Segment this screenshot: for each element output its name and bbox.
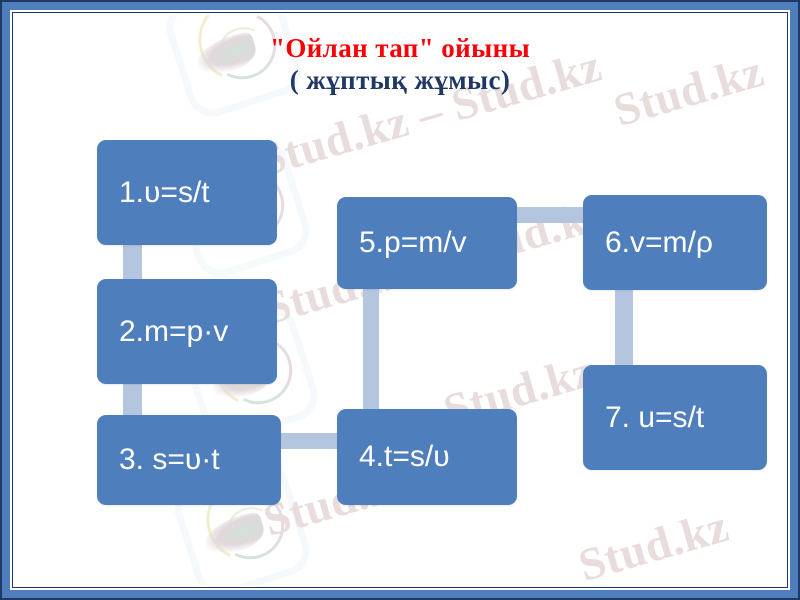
connector-6-7	[615, 290, 633, 366]
node-label: 3. s=υ·t	[119, 443, 220, 477]
node-1[interactable]: 1.υ=s/t	[97, 140, 277, 245]
node-label: 2.m=p·v	[119, 315, 228, 349]
connector-5-6	[516, 207, 585, 223]
node-label: 6.v=m/ρ	[605, 226, 713, 260]
connector-5-4	[363, 289, 379, 410]
connector-2-3	[123, 384, 142, 416]
node-3[interactable]: 3. s=υ·t	[97, 415, 281, 505]
node-4[interactable]: 4.t=s/υ	[337, 409, 517, 505]
connector-3-4	[279, 433, 338, 449]
watermark-text: Stud.kz	[573, 499, 735, 585]
connector-1-2	[123, 245, 142, 279]
page-title: "Ойлан тап" ойыны ( жұптық жұмыс)	[15, 33, 785, 97]
title-line-2: ( жұптық жұмыс)	[15, 65, 785, 97]
node-5[interactable]: 5.p=m/v	[337, 197, 517, 289]
node-label: 7. u=s/t	[605, 401, 704, 435]
node-6[interactable]: 6.v=m/ρ	[583, 195, 767, 290]
node-label: 4.t=s/υ	[359, 440, 450, 474]
title-line-1: "Ойлан тап" ойыны	[15, 33, 785, 65]
slide-canvas: Stud.kz – Stud.kzStud.kz – Stud.kzStud.k…	[15, 15, 785, 585]
node-2[interactable]: 2.m=p·v	[97, 279, 277, 384]
node-7[interactable]: 7. u=s/t	[583, 365, 767, 470]
slide: Stud.kz – Stud.kzStud.kz – Stud.kzStud.k…	[0, 0, 800, 600]
node-label: 5.p=m/v	[359, 226, 467, 260]
node-label: 1.υ=s/t	[119, 176, 210, 210]
